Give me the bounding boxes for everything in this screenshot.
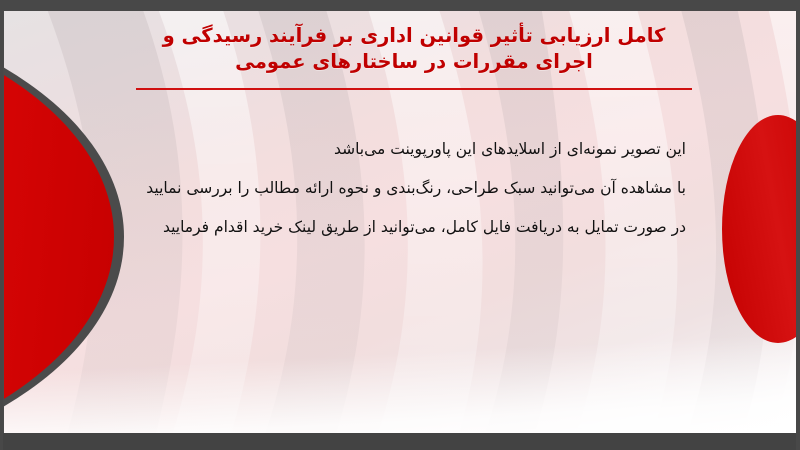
- frame-top-band: [0, 0, 800, 11]
- title-divider-rule: [136, 88, 692, 90]
- frame-bottom-band: [0, 433, 800, 450]
- slide-title: کامل ارزیابی تأثیر قوانین اداری بر فرآین…: [124, 23, 704, 75]
- slide-body-text: این تصویر نمونه‌ای از اسلایدهای این پاور…: [66, 130, 686, 247]
- body-line-2: با مشاهده آن می‌توانید سبک طراحی، رنگ‌بن…: [66, 169, 686, 208]
- slide-canvas: کامل ارزیابی تأثیر قوانین اداری بر فرآین…: [0, 0, 800, 450]
- body-line-1: این تصویر نمونه‌ای از اسلایدهای این پاور…: [66, 130, 686, 169]
- slide-content-area: کامل ارزیابی تأثیر قوانین اداری بر فرآین…: [4, 11, 796, 435]
- frame-right-band: [796, 0, 800, 450]
- body-line-3: در صورت تمایل به دریافت فایل کامل، می‌تو…: [66, 208, 686, 247]
- slide-title-line-2: اجرای مقررات در ساختارهای عمومی: [124, 49, 704, 75]
- frame-left-band: [0, 0, 3, 450]
- slide-title-line-1: کامل ارزیابی تأثیر قوانین اداری بر فرآین…: [124, 23, 704, 49]
